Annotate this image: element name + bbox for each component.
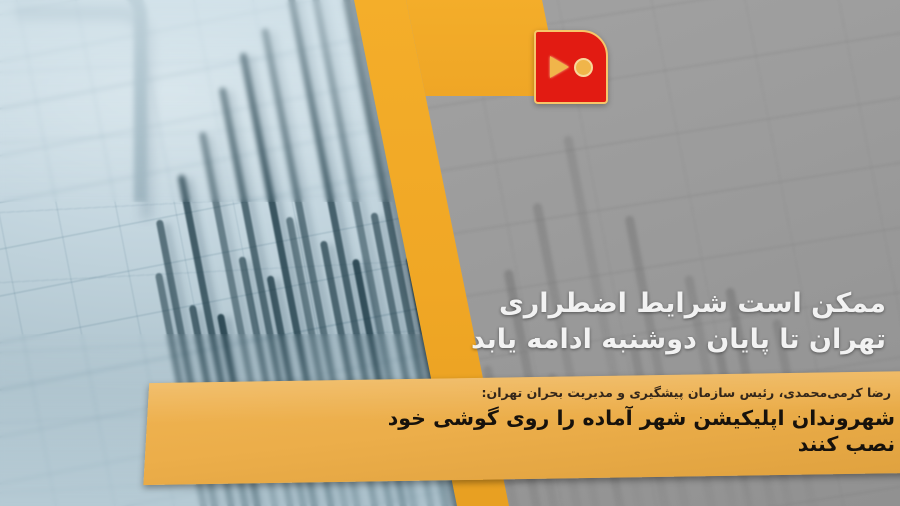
headline-line-1: ممکن است شرایط اضطراری — [366, 286, 886, 322]
quote-line-2: نصب کنند — [164, 431, 895, 457]
quote-attribution: رضا کرمی‌محمدی، رئیس سازمان پیشگیری و مد… — [164, 384, 891, 403]
logo-play-icon — [550, 56, 569, 78]
page-title: ممکن است شرایط اضطراری تهران تا پایان دو… — [366, 286, 886, 357]
quote-text: شهروندان اپلیکیشن شهر آماده را روی گوشی … — [164, 405, 895, 457]
headline-line-2: تهران تا پایان دوشنبه ادامه یابد — [366, 322, 886, 358]
logo-circle-icon — [574, 58, 593, 77]
quote-line-1: شهروندان اپلیکیشن شهر آماده را روی گوشی … — [164, 405, 895, 431]
news-card: ممکن است شرایط اضطراری تهران تا پایان دو… — [0, 0, 900, 506]
quote-card-content: رضا کرمی‌محمدی، رئیس سازمان پیشگیری و مد… — [146, 377, 900, 479]
quote-card: رضا کرمی‌محمدی، رئیس سازمان پیشگیری و مد… — [143, 371, 900, 485]
brand-logo[interactable] — [534, 30, 608, 104]
